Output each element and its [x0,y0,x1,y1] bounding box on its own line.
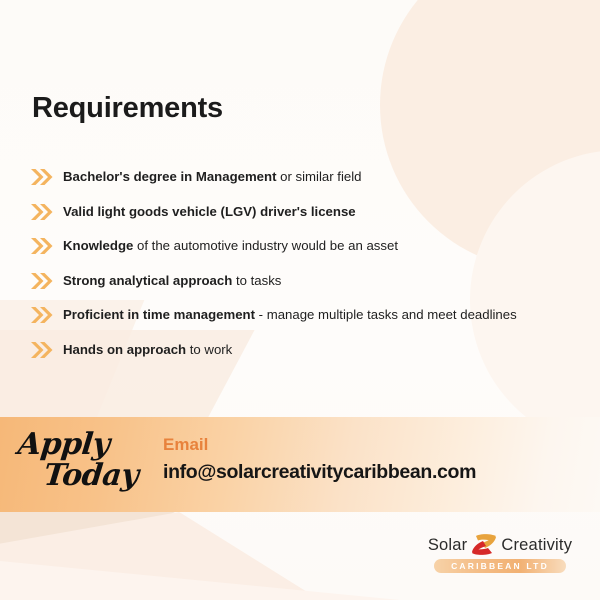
list-item-text: Knowledge of the automotive industry wou… [63,238,398,254]
list-item: Proficient in time management - manage m… [30,298,590,333]
double-chevron-icon [30,166,54,188]
list-item-rest: of the automotive industry would be an a… [133,238,398,253]
poster-canvas: Requirements Bachelor's degree in Manage… [0,0,600,600]
list-item-rest: to tasks [232,273,281,288]
email-block: Email info@solarcreativitycaribbean.com [163,435,476,484]
logo-word-solar: Solar [428,536,468,555]
list-item-bold: Valid light goods vehicle (LGV) driver's… [63,204,356,219]
list-item: Hands on approach to work [30,333,590,368]
double-chevron-icon [30,235,54,257]
list-item-rest: or similar field [276,169,361,184]
double-chevron-icon [30,304,54,326]
double-chevron-icon [30,201,54,223]
list-item-bold: Strong analytical approach [63,273,232,288]
list-item-rest: - manage multiple tasks and meet deadlin… [255,307,517,322]
logo-wordmark: Solar Creativity [420,532,580,558]
requirements-list: Bachelor's degree in Management or simil… [30,160,590,367]
email-label: Email [163,435,476,455]
company-logo: Solar Creativity CARIBBEAN LTD [420,532,580,578]
list-item-text: Strong analytical approach to tasks [63,273,281,289]
double-chevron-icon [30,270,54,292]
list-item-bold: Hands on approach [63,342,186,357]
double-chevron-icon [30,339,54,361]
list-item-text: Valid light goods vehicle (LGV) driver's… [63,204,356,220]
solar-s-mark-icon [469,532,499,558]
list-item: Strong analytical approach to tasks [30,264,590,299]
apply-line-1: Apply [16,430,169,459]
list-item-text: Hands on approach to work [63,342,232,358]
apply-line-2: Today [42,461,169,490]
list-item: Knowledge of the automotive industry wou… [30,229,590,264]
list-item-text: Proficient in time management - manage m… [63,307,517,323]
page-title: Requirements [32,92,223,125]
list-item-bold: Proficient in time management [63,307,255,322]
list-item: Bachelor's degree in Management or simil… [30,160,590,195]
email-address[interactable]: info@solarcreativitycaribbean.com [163,461,476,484]
list-item-text: Bachelor's degree in Management or simil… [63,169,361,185]
apply-today-script: Apply Today [18,430,168,502]
list-item-bold: Bachelor's degree in Management [63,169,276,184]
list-item-bold: Knowledge [63,238,133,253]
logo-word-creativity: Creativity [501,536,572,555]
apply-banner: Apply Today Email info@solarcreativityca… [0,417,600,512]
logo-subtitle: CARIBBEAN LTD [451,561,549,571]
list-item-rest: to work [186,342,232,357]
logo-subtitle-bar: CARIBBEAN LTD [434,559,566,573]
list-item: Valid light goods vehicle (LGV) driver's… [30,195,590,230]
